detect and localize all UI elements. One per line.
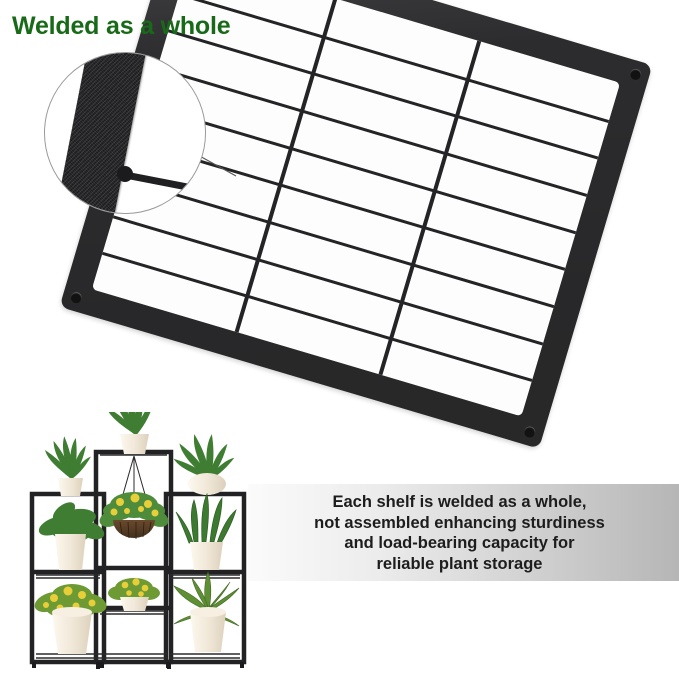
description-line-1: Each shelf is welded as a whole, bbox=[248, 492, 671, 513]
weld-point-icon bbox=[117, 166, 133, 182]
shelf-slat bbox=[179, 0, 609, 123]
description-line-2: not assembled enhancing sturdiness bbox=[248, 513, 671, 534]
feature-description-band: Each shelf is welded as a whole, not ass… bbox=[248, 484, 679, 581]
page-title: Welded as a whole bbox=[12, 12, 230, 41]
plant-spider-plant-top-left bbox=[43, 436, 93, 496]
magnifier-callout bbox=[44, 52, 206, 214]
plant-fern-low-right bbox=[174, 572, 239, 652]
shelf-cross-bar bbox=[378, 40, 481, 375]
description-line-4: reliable plant storage bbox=[248, 554, 671, 575]
weld-bar-detail bbox=[51, 52, 149, 214]
multi-tier-plant-stand bbox=[8, 412, 270, 674]
screw-hole-icon bbox=[523, 425, 537, 439]
plant-aloe-top-center bbox=[105, 412, 159, 454]
product-feature-image: Welded as a whole bbox=[0, 0, 679, 677]
screw-hole-icon bbox=[629, 68, 643, 82]
feature-description-text: Each shelf is welded as a whole, not ass… bbox=[248, 492, 671, 574]
screw-hole-icon bbox=[69, 291, 83, 305]
plant-hanging-flower-basket bbox=[97, 456, 171, 539]
plant-snake-plant-mid-right bbox=[176, 494, 236, 570]
shelf-cross-bar bbox=[235, 0, 338, 333]
shelf-slat bbox=[113, 215, 543, 345]
magnifier-circle bbox=[44, 52, 206, 214]
shelf-slat bbox=[146, 104, 576, 234]
weld-rod-detail bbox=[122, 171, 206, 199]
plant-spider-plant-top-right bbox=[172, 433, 237, 495]
shelf-slat bbox=[168, 30, 598, 160]
shelf-slat bbox=[157, 67, 587, 197]
description-line-3: and load-bearing capacity for bbox=[248, 533, 671, 554]
shelf-slat bbox=[102, 252, 532, 382]
